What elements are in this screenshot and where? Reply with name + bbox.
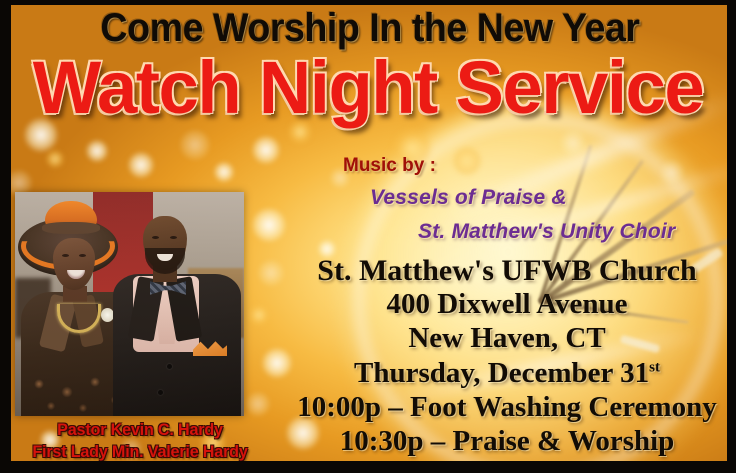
first-lady-eye	[62, 254, 69, 257]
first-lady-hat-band	[42, 222, 100, 234]
page-title: Watch Night Service	[15, 48, 721, 128]
schedule-foot-washing: 10:00p – Foot Washing Ceremony	[286, 391, 728, 424]
event-date-suffix: st	[649, 359, 660, 375]
photo-caption-pastor: Pastor Kevin C. Hardy	[17, 419, 262, 440]
first-lady-dress-pattern	[23, 370, 127, 416]
first-lady-eye	[79, 254, 86, 257]
music-group-vessels-of-praise: Vessels of Praise &	[370, 186, 567, 210]
pastor-suit-button	[158, 390, 163, 395]
event-date-main: Thursday, December 31	[354, 357, 649, 389]
church-name: St. Matthew's UFWB Church	[286, 254, 728, 288]
street-address: 400 Dixwell Avenue	[286, 288, 728, 321]
watch-night-service-flyer: Come Worship In the New Year Watch Night…	[0, 0, 736, 473]
schedule-praise-worship: 10:30p – Praise & Worship	[286, 425, 728, 458]
pastor-eye	[170, 236, 177, 239]
frame-border-right	[727, 0, 736, 473]
frame-border-bottom	[0, 461, 736, 473]
frame-border-top	[0, 0, 736, 5]
event-date: Thursday, December 31st	[286, 357, 728, 390]
music-group-unity-choir: St. Matthew's Unity Choir	[418, 220, 675, 244]
music-by-label: Music by :	[343, 155, 436, 177]
pastor-suit-button	[167, 364, 172, 369]
headline-text: Come Worship In the New Year	[35, 6, 704, 50]
pastor-eye	[152, 236, 159, 239]
frame-border-left	[0, 0, 11, 473]
city-state: New Haven, CT	[286, 322, 728, 355]
photo-caption-first-lady: First Lady Min. Valerie Hardy	[17, 441, 262, 462]
pastor-and-first-lady-photo	[15, 192, 244, 416]
